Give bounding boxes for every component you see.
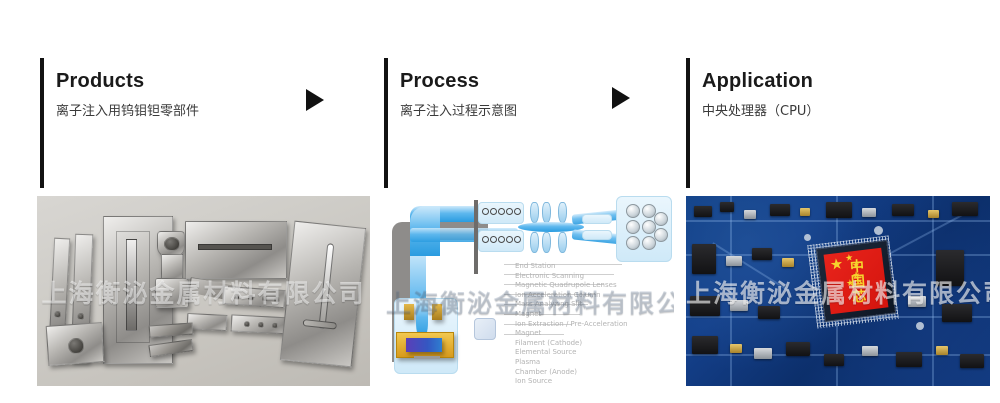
diagram-label: Elemental Source [515,348,628,358]
pcb-component [730,344,742,353]
header-text-process: Process 离子注入过程示意图 [400,68,517,121]
quadrupole-lens [530,232,539,253]
flag-star-large-icon: ★ [829,256,844,273]
pcb-component [694,206,712,217]
diagram-label: Magnet [515,310,628,320]
pcb-component [908,296,926,307]
diagram-label: Magnet [515,329,628,339]
application-image: ★ ★ ★ ★ ★ 中国芯 上海衡泌金属材料有限公司 [686,196,990,386]
process-title: Process [400,68,517,94]
products-title: Products [56,68,199,94]
diagram-label: Electronic Scanning [515,272,628,282]
cpu-chip-label: 中国芯 [847,258,865,304]
header-rule-process [384,58,388,188]
pcb-component [800,208,810,216]
pcb-component [754,348,772,359]
diagram-label: Plasma [515,358,628,368]
application-subtitle: 中央处理器（CPU） [702,103,819,121]
diagram-label-list: End Station Electronic Scanning Magnetic… [515,262,628,387]
plasma-region [406,338,442,352]
part-hole [244,321,250,327]
pcb-component [782,258,794,267]
electrode-ring [506,236,513,243]
diagram-label: Magnetic Quadrupole Lenses [515,281,628,291]
part-bore [164,237,180,251]
process-subtitle: 离子注入过程示意图 [400,103,517,121]
electrode-ring [490,236,497,243]
part-hole [234,294,240,300]
wafer [626,236,640,250]
part-block-slotted [185,221,287,279]
pcb-component [928,210,939,218]
page-root: Products 离子注入用钨钼钽零部件 [0,0,1000,403]
diagram-label: Mass Analyzing Slit [515,300,628,310]
wafer [626,204,640,218]
arrow-right-icon-2 [612,87,630,109]
wafer [626,220,640,234]
pcb-component [730,300,748,311]
part-hole [272,323,278,329]
wafer [654,212,668,226]
electrode-ring [506,208,513,215]
diagram-label: Ion Source [515,377,628,387]
products-subtitle: 离子注入用钨钼钽零部件 [56,103,199,121]
pcb-component [786,342,810,356]
pcb-component [744,210,756,219]
pcb-component [862,346,878,356]
pcb-component [692,336,718,354]
diagram-label: End Station [515,262,628,272]
electrode-ring [482,208,489,215]
pcb-component [690,296,720,316]
pcb-trace [932,196,934,386]
wafer [654,228,668,242]
cpu-chip: ★ ★ ★ ★ ★ 中国芯 [816,240,896,322]
pcb-component [942,304,972,322]
diagram-label: Ion Extraction / Pre-Acceleration [515,320,628,330]
pcb-component [726,256,742,266]
electrode-ring [498,208,505,215]
pcb-component [770,204,790,216]
electrode-ring [490,208,497,215]
pcb-trace [730,196,732,386]
header-text-products: Products 离子注入用钨钼钽零部件 [56,68,199,121]
pcb-component [952,202,978,216]
quadrupole-lens [542,232,551,253]
pcb-pad [916,322,924,330]
source-terminal-left [404,304,414,320]
pcb-component [758,306,780,319]
scanning-plate-bottom [582,230,612,240]
part-bore [68,337,85,354]
part-hole [77,313,84,320]
part-hole [54,311,61,318]
pcb-component [960,354,984,368]
process-diagram: End Station Electronic Scanning Magnetic… [386,192,674,391]
pcb-pad [804,234,811,241]
part-hook-slot [318,243,334,329]
pcb-component [692,244,716,274]
electrode-ring [482,236,489,243]
part-hook-plate [280,221,366,368]
pcb-component [824,354,844,366]
part-long-slot [198,244,272,250]
header-text-application: Application 中央处理器（CPU） [702,68,819,121]
pcb-pad [874,226,883,235]
source-terminal-right [432,304,442,320]
pcb-component [896,352,922,367]
pcb-component [720,202,734,212]
products-image: 上海衡泌金属材料有限公司 [37,196,370,386]
diagram-label: Filament (Cathode) [515,339,628,349]
quadrupole-lens [542,202,551,223]
electrode-ring [514,208,521,215]
pcb-component [826,202,852,218]
quadrupole-lens [530,202,539,223]
pcb-component [862,208,876,217]
application-title: Application [702,68,819,94]
pcb-component [936,250,964,286]
electrode-ring [498,236,505,243]
part-hole [262,296,268,302]
header-rule-products [40,58,44,188]
part-slot-outline [116,231,150,343]
scanning-plate-top [582,214,612,224]
cpu-flag-lid: ★ ★ ★ ★ ★ 中国芯 [824,248,889,315]
part-hole [274,296,280,302]
pcb-component [892,204,914,216]
pcb-component [752,248,772,260]
part-hole [248,295,254,301]
filament-cathode [414,356,440,359]
part-hole [258,322,264,328]
arrow-right-icon-1 [306,89,324,111]
quadrupole-lens [558,232,567,253]
electrode-ring [514,236,521,243]
pcb-component [936,346,948,355]
elemental-source-box [474,318,496,340]
diagram-label: Ion Acceleration Column [515,291,628,301]
part-cup-base [155,278,189,308]
diagram-label: Chamber (Anode) [515,368,628,378]
header-rule-application [686,58,690,188]
quadrupole-lens [558,202,567,223]
part-flat-plate [46,322,105,366]
